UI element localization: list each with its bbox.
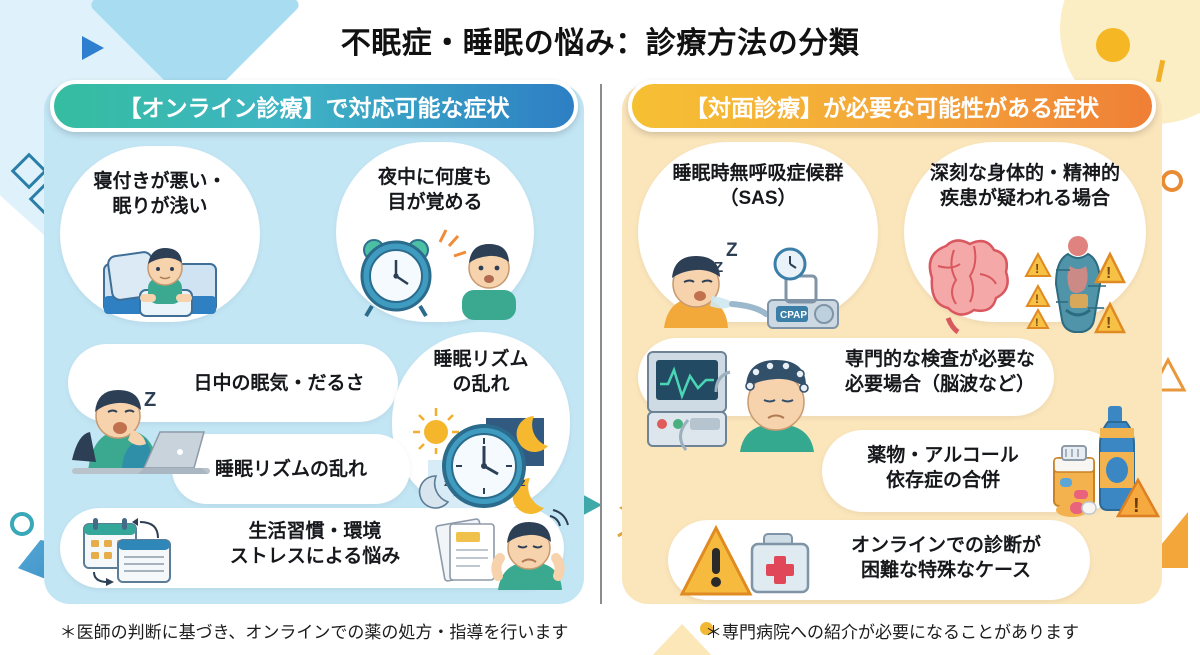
list-item-label: 睡眠時無呼吸症候群 （SAS） bbox=[638, 162, 878, 211]
left-footnote: ＊医師の判断に基づき、オンラインでの薬の処方・指導を行います bbox=[44, 618, 584, 643]
page-title: 不眠症・睡眠の悩み：診療方法の分類 bbox=[0, 18, 1200, 62]
svg-text:Z: Z bbox=[144, 389, 156, 411]
cpap-sleep-apnea-icon: Z Z z CPAP bbox=[660, 234, 846, 330]
in-person-consultation-panel: 【対面診療】が必要な可能性がある症状 睡眠時無呼吸症候群 （SAS） Z Z z… bbox=[622, 84, 1162, 604]
svg-text:!: ! bbox=[1133, 495, 1140, 517]
list-item-label: 専門的な検査が必要な 必要場合（脳波など） bbox=[818, 348, 1062, 397]
in-person-consultation-header: 【対面診療】が必要な可能性がある症状 bbox=[628, 80, 1156, 132]
list-item-label: 薬物・アルコール 依存症の合併 bbox=[828, 444, 1058, 493]
list-item-label: オンラインでの診断が 困難な特殊なケース bbox=[818, 534, 1074, 583]
panel-divider bbox=[600, 84, 602, 604]
infographic-canvas: 不眠症・睡眠の悩み：診療方法の分類 【オンライン診療】で対応可能な症状 寝付きが… bbox=[0, 0, 1200, 655]
teal-diamond-outline-icon bbox=[11, 153, 48, 190]
orange-circle-outline-icon bbox=[1161, 170, 1183, 192]
list-item-label: 日中の眠気・だるさ bbox=[164, 372, 394, 397]
list-item-label: 夜中に何度も 目が覚める bbox=[336, 166, 534, 215]
list-item-label: 睡眠リズムの乱れ bbox=[172, 458, 410, 483]
teal-circle-outline-icon bbox=[10, 512, 34, 536]
svg-text:!: ! bbox=[1035, 261, 1039, 276]
person-in-bed-icon bbox=[96, 234, 224, 320]
orange-sparkle-icon-2 bbox=[1169, 69, 1186, 89]
alarm-clock-awake-person-icon bbox=[354, 228, 524, 320]
clock-sun-moon-icon: z z ★ bbox=[402, 404, 562, 510]
list-item-label: 寝付きが悪い・ 眠りが浅い bbox=[60, 170, 260, 219]
list-item-label: 生活習慣・環境 ストレスによる悩み bbox=[190, 520, 440, 569]
calendar-arrows-icon bbox=[80, 514, 180, 586]
orange-sparkle-icon bbox=[1156, 60, 1165, 83]
brain-body-warning-icon: ! ! ! ! ! bbox=[918, 232, 1124, 332]
online-consultation-panel: 【オンライン診療】で対応可能な症状 寝付きが悪い・ 眠りが浅い 夜中に何度も 目… bbox=[44, 84, 584, 604]
orange-sparkle-icon-3 bbox=[1182, 83, 1200, 94]
list-item-label: 深刻な身体的・精神的 疾患が疑われる場合 bbox=[904, 162, 1146, 211]
eeg-monitor-icon bbox=[644, 348, 824, 456]
svg-text:!: ! bbox=[1106, 265, 1111, 282]
svg-text:!: ! bbox=[1035, 317, 1039, 329]
right-footnote: ＊専門病院への紹介が必要になることがあります bbox=[622, 618, 1162, 643]
warning-first-aid-kit-icon bbox=[680, 524, 820, 598]
svg-text:Z: Z bbox=[726, 240, 738, 261]
svg-text:CPAP: CPAP bbox=[780, 310, 807, 321]
list-item-label: 睡眠リズム の乱れ bbox=[392, 348, 570, 397]
stressed-person-documents-icon bbox=[438, 508, 564, 592]
online-consultation-header: 【オンライン診療】で対応可能な症状 bbox=[50, 80, 578, 132]
medicine-alcohol-warning-icon: ! bbox=[1050, 402, 1160, 520]
svg-text:!: ! bbox=[1035, 292, 1039, 306]
svg-text:!: ! bbox=[1106, 315, 1111, 332]
